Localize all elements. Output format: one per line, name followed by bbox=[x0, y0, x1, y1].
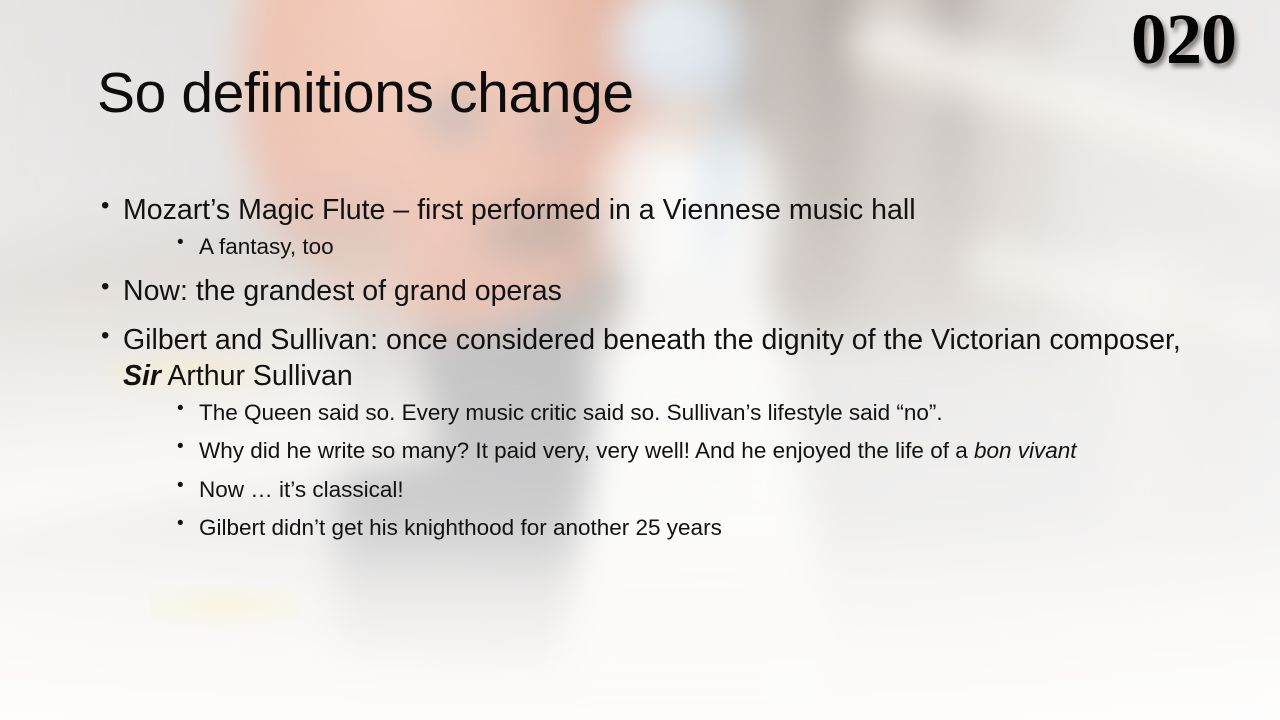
sub-bullet-text: Why did he write so many? It paid very, … bbox=[199, 436, 1212, 465]
bullet-item: Now: the grandest of grand operas bbox=[97, 273, 1212, 309]
sub-bullet-text: Gilbert didn’t get his knighthood for an… bbox=[199, 513, 1212, 542]
sub-bullet-item: Why did he write so many? It paid very, … bbox=[173, 436, 1212, 465]
bullet-text: Mozart’s Magic Flute – first performed i… bbox=[123, 192, 1212, 228]
sub-bullet-text: Now … it’s classical! bbox=[199, 475, 1212, 504]
sub-bullet-text: A fantasy, too bbox=[199, 232, 1212, 261]
sub-bullet-text: The Queen said so. Every music critic sa… bbox=[199, 398, 1212, 427]
slide-number: 020 bbox=[1131, 0, 1236, 81]
bullet-list-level2: The Queen said so. Every music critic sa… bbox=[123, 398, 1212, 542]
bullet-text: Gilbert and Sullivan: once considered be… bbox=[123, 322, 1212, 394]
slide-body: Mozart’s Magic Flute – first performed i… bbox=[97, 192, 1212, 554]
bullet-list-level1: Mozart’s Magic Flute – first performed i… bbox=[97, 192, 1212, 542]
sub-bullet-item: The Queen said so. Every music critic sa… bbox=[173, 398, 1212, 427]
page-title: So definitions change bbox=[97, 63, 634, 123]
bullet-list-level2: A fantasy, too bbox=[123, 232, 1212, 261]
bullet-text-part: Gilbert and Sullivan: once considered be… bbox=[123, 324, 1181, 356]
bullet-text: Now: the grandest of grand operas bbox=[123, 273, 1212, 309]
bullet-text-part: Arthur Sullivan bbox=[161, 360, 353, 392]
slide-canvas: 020 So definitions change Mozart’s Magic… bbox=[0, 0, 1280, 720]
bullet-item: Gilbert and Sullivan: once considered be… bbox=[97, 322, 1212, 542]
slide-content: 020 So definitions change Mozart’s Magic… bbox=[0, 0, 1280, 720]
sub-bullet-text-italic: bon vivant bbox=[974, 438, 1077, 463]
sub-bullet-item: A fantasy, too bbox=[173, 232, 1212, 261]
sub-bullet-item: Now … it’s classical! bbox=[173, 475, 1212, 504]
sub-bullet-text-part: Why did he write so many? It paid very, … bbox=[199, 438, 974, 463]
bullet-item: Mozart’s Magic Flute – first performed i… bbox=[97, 192, 1212, 261]
sub-bullet-item: Gilbert didn’t get his knighthood for an… bbox=[173, 513, 1212, 542]
bullet-text-emphasis: Sir bbox=[123, 360, 161, 392]
